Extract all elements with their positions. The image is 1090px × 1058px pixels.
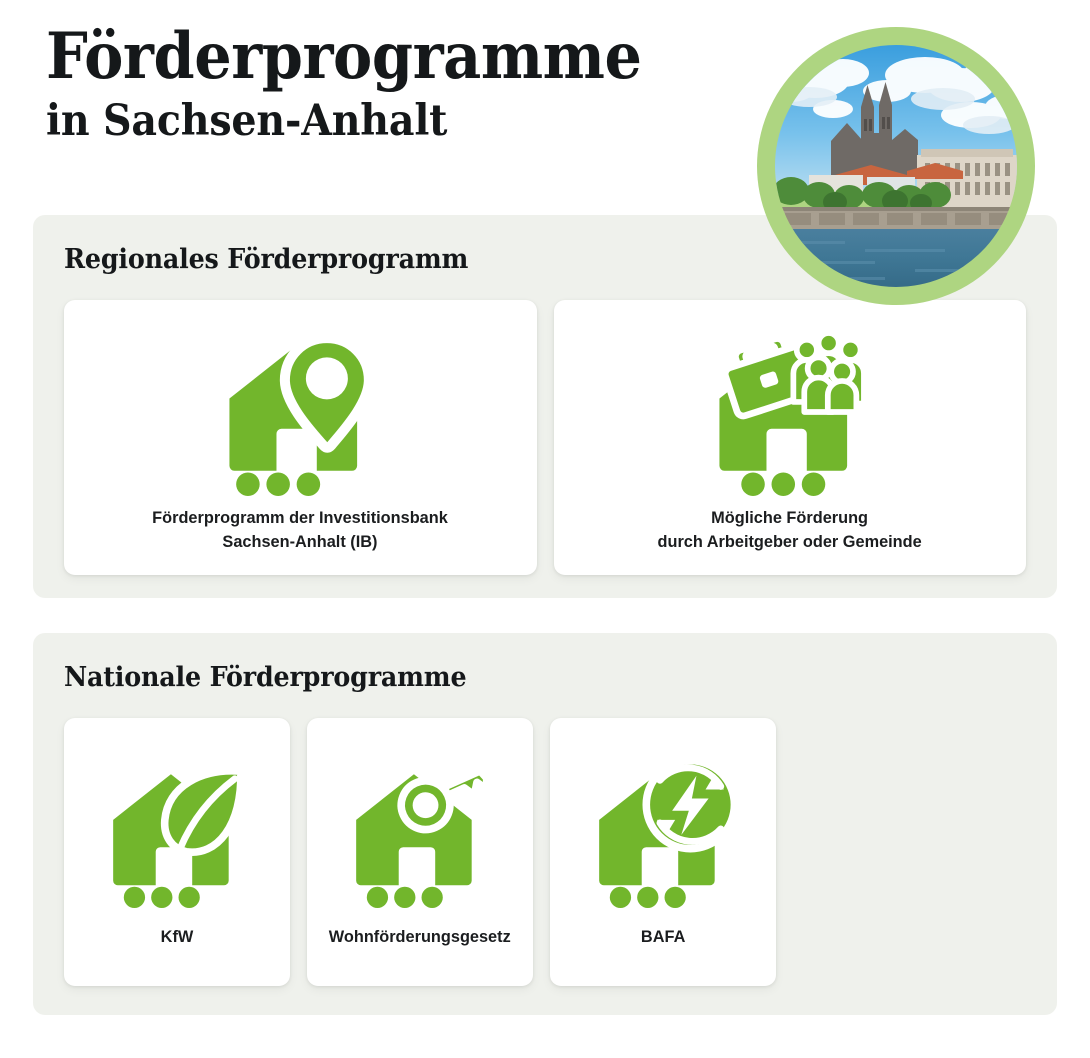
card-label: KfW xyxy=(161,925,194,950)
header: Förderprogramme in Sachsen-Anhalt xyxy=(46,24,746,145)
card-kfw[interactable]: KfW xyxy=(64,718,290,986)
section-panel-national: Nationale Förderprogramme K xyxy=(33,633,1057,1015)
house-energy-bolt-icon xyxy=(564,740,762,923)
infographic-root: Förderprogramme in Sachsen-Anhalt xyxy=(0,0,1090,1058)
card-bafa[interactable]: BAFA xyxy=(550,718,776,986)
city-photo-circle xyxy=(757,27,1035,305)
house-location-pin-icon xyxy=(78,322,523,502)
page-subtitle: in Sachsen-Anhalt xyxy=(46,97,690,145)
card-investitionsbank[interactable]: Förderprogramm der Investitionsbank Sach… xyxy=(64,300,537,575)
house-key-icon xyxy=(321,740,519,923)
card-wohnfoerderungsgesetz[interactable]: Wohnförderungsgesetz xyxy=(307,718,533,986)
house-briefcase-people-icon xyxy=(568,322,1013,502)
page-title: Förderprogramme xyxy=(46,24,690,91)
card-grid-national: KfW xyxy=(64,718,1026,986)
card-label: Förderprogramm der Investitionsbank Sach… xyxy=(152,506,448,555)
card-label: BAFA xyxy=(641,925,685,950)
section-title-regional: Regionales Förderprogramm xyxy=(64,244,468,275)
card-label: Mögliche Förderung durch Arbeitgeber ode… xyxy=(658,506,922,555)
section-title-national: Nationale Förderprogramme xyxy=(64,662,466,693)
card-grid-regional: Förderprogramm der Investitionsbank Sach… xyxy=(64,300,1026,575)
house-leaf-icon xyxy=(78,740,276,923)
card-label: Wohnförderungsgesetz xyxy=(329,925,511,950)
city-photo xyxy=(775,45,1017,287)
card-arbeitgeber-gemeinde[interactable]: Mögliche Förderung durch Arbeitgeber ode… xyxy=(554,300,1027,575)
